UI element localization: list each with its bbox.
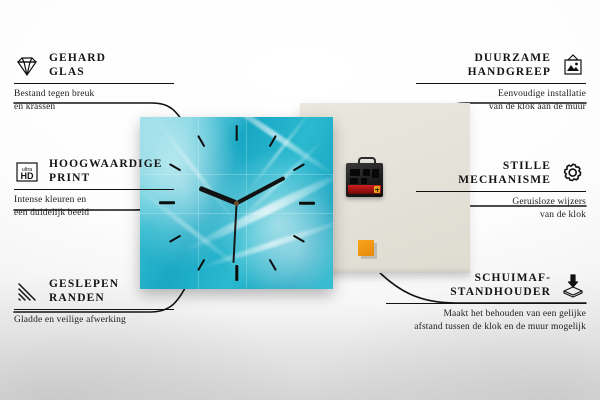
feature-stille-mechanisme: STILLE MECHANISME Geruisloze wijzers van…	[416, 160, 586, 221]
feature-schuimafstandhouder: SCHUIMAF- STANDHOUDER Maakt het behouden…	[386, 272, 586, 333]
feature-desc-line2: van de klok aan de muur	[416, 101, 586, 114]
product-feature-infographic: GEHARD GLAS Bestand tegen breuk en krass…	[0, 0, 600, 400]
feature-gehard-glas: GEHARD GLAS Bestand tegen breuk en krass…	[14, 52, 174, 113]
diamond-icon	[14, 53, 40, 79]
feature-title-line1: GESLEPEN	[49, 278, 119, 292]
feature-divider	[416, 191, 586, 192]
feature-desc-line1: Gladde en veilige afwerking	[14, 314, 174, 327]
feature-title-line2: MECHANISME	[458, 174, 551, 188]
feature-divider	[386, 303, 586, 304]
feature-geslepen-randen: GESLEPEN RANDEN Gladde en veilige afwerk…	[14, 278, 174, 327]
bevelled-edge-icon	[14, 279, 40, 305]
feature-divider	[14, 83, 174, 84]
feature-title-line2: RANDEN	[49, 292, 119, 306]
press-down-pad-icon	[560, 273, 586, 299]
feature-title-line2: GLAS	[49, 66, 106, 80]
ultra-hd-icon: ultra HD	[14, 159, 40, 185]
feature-desc-line1: Intense kleuren en	[14, 194, 174, 207]
feature-title-line2: HANDGREEP	[468, 66, 551, 80]
clock-movement	[346, 163, 383, 197]
feature-title-line1: GEHARD	[49, 52, 106, 66]
feature-desc-line1: Bestand tegen breuk	[14, 88, 174, 101]
feature-title-line1: DUURZAME	[468, 52, 551, 66]
feature-desc-line1: Geruisloze wijzers	[416, 196, 586, 209]
feature-title-line1: HOOGWAARDIGE	[49, 158, 163, 172]
feature-title-line1: STILLE	[458, 160, 551, 174]
feature-duurzame-handgreep: DUURZAME HANDGREEP Eenvoudige installati…	[416, 52, 586, 113]
feature-divider	[14, 309, 174, 310]
feature-desc-line2: en krassen	[14, 101, 174, 114]
feature-hoogwaardige-print: ultra HD HOOGWAARDIGE PRINT Intense kleu…	[14, 158, 174, 219]
battery-plus-terminal	[374, 186, 380, 193]
feature-desc-line2: van de klok	[416, 209, 586, 222]
feature-desc-line1: Maakt het behouden van een gelijke	[386, 308, 586, 321]
feature-divider	[14, 189, 174, 190]
feature-divider	[416, 83, 586, 84]
feature-title-line1: SCHUIMAF-	[450, 272, 551, 286]
feature-desc-line2: afstand tussen de klok en de muur mogeli…	[386, 321, 586, 334]
svg-text:HD: HD	[21, 171, 34, 181]
feature-title-line2: STANDHOUDER	[450, 286, 551, 300]
feature-desc-line1: Eenvoudige installatie	[416, 88, 586, 101]
gear-icon	[560, 161, 586, 187]
foam-spacer-pad	[358, 240, 374, 256]
feature-title-line2: PRINT	[49, 172, 163, 186]
feature-desc-line2: een duidelijk beeld	[14, 207, 174, 220]
clock-hand-pivot	[234, 201, 239, 206]
framed-picture-icon	[560, 53, 586, 79]
